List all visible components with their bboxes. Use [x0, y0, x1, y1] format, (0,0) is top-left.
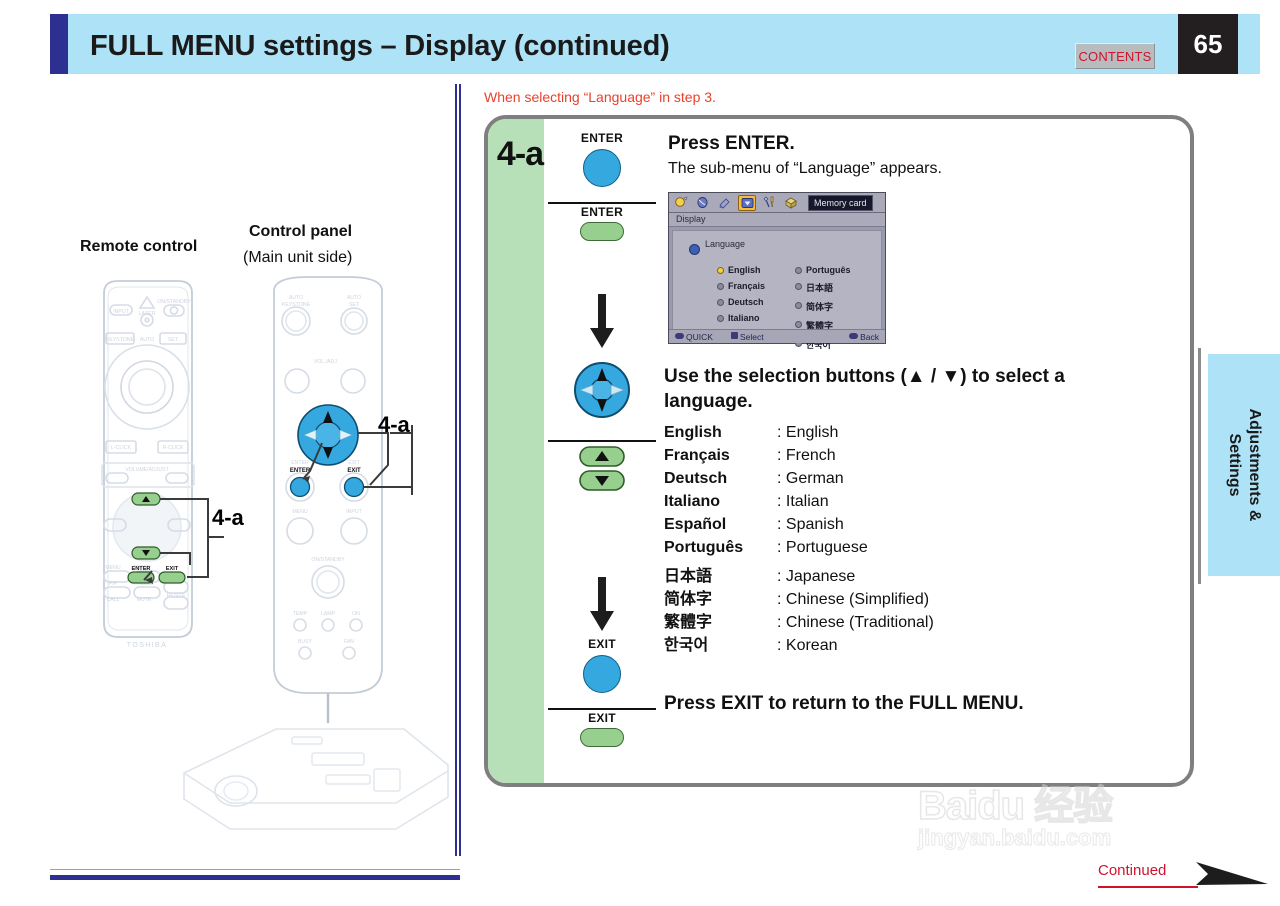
table-row: 简体字 : Chinese (Simplified) [664, 585, 934, 608]
svg-text:L-CLICK: L-CLICK [111, 445, 131, 451]
enter-pill-group: ENTER [544, 205, 660, 241]
svg-text:ON/STANDBY: ON/STANDBY [157, 299, 191, 305]
language-english: : German [777, 470, 844, 488]
down-pill-button-icon[interactable] [579, 470, 625, 492]
osd-image-adjust-icon[interactable] [672, 195, 690, 211]
table-row: Português : Portuguese [664, 539, 934, 562]
flow-arrow-down-icon [589, 577, 615, 633]
language-english: : Korean [777, 637, 837, 655]
svg-text:AUTO: AUTO [289, 295, 303, 301]
exit-top-label: EXIT [544, 637, 660, 651]
osd-title: Display [669, 213, 885, 227]
page-title: FULL MENU settings – Display (continued) [90, 26, 940, 70]
svg-text:LASER: LASER [138, 311, 155, 317]
continued-underline [1098, 886, 1198, 888]
language-english: : Chinese (Simplified) [777, 591, 929, 609]
watermark: Baidu 经验 jingyan.baidu.com [918, 786, 1218, 852]
osd-default-icon[interactable] [782, 195, 800, 211]
svg-text:FREEZE: FREEZE [134, 581, 155, 587]
svg-text:TEMP: TEMP [293, 611, 308, 617]
svg-text:SET: SET [349, 302, 360, 308]
language-native: 한국어 [664, 631, 777, 655]
enter-pill-button-icon[interactable] [580, 222, 624, 241]
svg-text:BUSY: BUSY [298, 639, 313, 645]
exit-round-button-icon[interactable] [583, 655, 621, 693]
svg-text:MENU: MENU [105, 565, 121, 571]
language-native: 日本語 [664, 562, 777, 586]
osd-submenu-title: Language [705, 239, 745, 249]
svg-text:SET: SET [168, 337, 179, 343]
osd-display-icon[interactable] [738, 195, 756, 211]
svg-text:ENTER: ENTER [291, 460, 309, 466]
svg-text:PIP: PIP [109, 581, 118, 587]
osd-language-label: Italiano [728, 313, 760, 323]
document-page: FULL MENU settings – Display (continued)… [0, 0, 1280, 906]
osd-radio-icon [795, 267, 802, 274]
osd-language-label: 日本語 [806, 283, 833, 293]
watermark-line-2: jingyan.baidu.com [918, 826, 1218, 850]
table-row: English : English [664, 424, 934, 447]
osd-radio-icon [717, 315, 724, 322]
osd-footer-select[interactable]: Select [731, 332, 764, 342]
osd-select-button-icon [731, 332, 738, 339]
continued-indicator: Continued [1098, 862, 1166, 880]
page-number-badge: 65 [1178, 14, 1238, 74]
svg-text:INPUT: INPUT [346, 509, 362, 515]
page-number-label: 65 [1194, 29, 1223, 60]
svg-text:EXIT: EXIT [348, 460, 360, 466]
enter-bottom-label: ENTER [544, 205, 660, 219]
svg-text:FAN: FAN [344, 639, 354, 645]
step-card: 4-a ENTER ENTER Press ENTER. The sub-men… [484, 115, 1194, 787]
svg-text:VOL./ADJ.: VOL./ADJ. [314, 359, 339, 365]
watermark-line-1: Baidu 经验 [918, 786, 1218, 826]
osd-radio-icon [795, 302, 802, 309]
osd-language-item[interactable]: Português [795, 265, 851, 275]
language-native: Deutsch [664, 470, 777, 488]
up-pill-button-icon[interactable] [579, 446, 625, 468]
language-english: : French [777, 447, 836, 465]
enter-top-label: ENTER [544, 131, 660, 145]
table-row: Español : Spanish [664, 516, 934, 539]
osd-body: Language English Français Deutsch [672, 230, 882, 333]
osd-language-item[interactable]: English [717, 265, 765, 275]
flow-arrow-down-icon [589, 294, 615, 350]
updown-pill-group [544, 446, 660, 492]
language-english: : Chinese (Traditional) [777, 614, 934, 632]
osd-radio-icon [795, 283, 802, 290]
osd-footer-quick[interactable]: QUICK [675, 332, 713, 342]
control-panel-subcaption: (Main unit side) [243, 249, 352, 267]
selection-pad-icon[interactable] [573, 361, 631, 419]
selection-pad-group [544, 361, 660, 419]
step-card-green-band [488, 119, 544, 783]
section-tab-adjustments-settings[interactable]: Adjustments & Settings [1208, 354, 1280, 576]
osd-quick-button-icon [675, 333, 684, 339]
svg-text:ENTER: ENTER [133, 565, 151, 571]
osd-memory-card-tab[interactable]: Memory card [808, 195, 873, 211]
svg-text:MENU: MENU [292, 509, 308, 515]
language-english: : Portuguese [777, 539, 868, 557]
exit-pill-button-icon[interactable] [580, 728, 624, 747]
table-row: 한국어 : Korean [664, 631, 934, 654]
language-native: English [664, 424, 777, 442]
osd-language-label: 简体字 [806, 302, 833, 312]
language-reference-table: English : English Français : French Deut… [664, 424, 934, 654]
footer-rule-thin [50, 869, 460, 870]
osd-screenshot: Memory card Display Language English Fra… [668, 192, 886, 344]
divider-line-2 [548, 440, 656, 442]
divider-line-3 [548, 708, 656, 710]
contents-button-label: CONTENTS [1078, 49, 1151, 64]
osd-language-column-right: Português 日本語 简体字 繁體字 [795, 265, 851, 357]
svg-text:KEYSTONE: KEYSTONE [282, 302, 311, 308]
footer-rule-thick [50, 875, 460, 880]
contents-button[interactable]: CONTENTS [1075, 43, 1155, 69]
divider-line-1 [548, 202, 656, 204]
table-row: Italiano : Italian [664, 493, 934, 516]
osd-radio-icon [717, 283, 724, 290]
svg-text:CALL: CALL [107, 597, 120, 603]
svg-text:ON/STANDBY: ON/STANDBY [311, 557, 345, 563]
svg-text:INPUT: INPUT [113, 309, 129, 315]
remote-control-caption: Remote control [80, 238, 197, 256]
osd-language-item[interactable]: 日本語 [795, 281, 851, 294]
language-english: : English [777, 424, 838, 442]
svg-text:R-CLICK: R-CLICK [163, 445, 184, 451]
osd-language-label: Français [728, 281, 765, 291]
svg-text:MUTE: MUTE [137, 597, 152, 603]
svg-text:AUTO: AUTO [140, 337, 154, 343]
language-native: 简体字 [664, 585, 777, 609]
svg-text:AUTO: AUTO [347, 295, 361, 301]
language-native: 繁體字 [664, 608, 777, 632]
svg-text:VOLUME/ADJUST: VOLUME/ADJUST [125, 467, 169, 473]
language-native: Français [664, 447, 777, 465]
osd-color-icon[interactable] [694, 195, 712, 211]
osd-language-label: Deutsch [728, 297, 764, 307]
control-panel-caption: Control panel [249, 223, 352, 241]
language-english: : Spanish [777, 516, 844, 534]
svg-text:LAMP: LAMP [321, 611, 336, 617]
table-row: Français : French [664, 447, 934, 470]
section-tab-label: Adjustments & Settings [1208, 354, 1280, 576]
svg-text:EXIT: EXIT [167, 575, 179, 581]
svg-text:KEYSTONE: KEYSTONE [106, 337, 135, 343]
table-row: 繁體字 : Chinese (Traditional) [664, 608, 934, 631]
osd-radio-icon [795, 321, 802, 328]
step-heading-exit: Press EXIT to return to the FULL MENU. [664, 693, 1024, 715]
osd-language-item[interactable]: Français [717, 281, 765, 291]
continued-arrow-icon [1194, 858, 1274, 890]
language-native: Español [664, 516, 777, 534]
step-heading-enter: Press ENTER. [668, 133, 795, 155]
side-tab-rule [1198, 348, 1201, 584]
osd-language-label: English [728, 265, 761, 275]
exit-bottom-label: EXIT [544, 711, 660, 725]
header-accent-bar [50, 14, 68, 74]
osd-language-item[interactable]: 简体字 [795, 300, 851, 313]
language-native: Italiano [664, 493, 777, 511]
osd-input-icon[interactable] [716, 195, 734, 211]
osd-language-label: Português [806, 265, 851, 275]
language-native: Português [664, 539, 777, 557]
table-row: Deutsch : German [664, 470, 934, 493]
osd-radio-selected-icon [717, 267, 724, 274]
exit-pill-group: EXIT [544, 711, 660, 747]
osd-language-item[interactable]: Deutsch [717, 297, 765, 307]
osd-language-item[interactable]: Italiano [717, 313, 765, 323]
enter-round-button-icon[interactable] [583, 149, 621, 187]
continued-label: Continued [1098, 862, 1166, 879]
svg-text:TOSHIBA: TOSHIBA [127, 642, 167, 649]
language-english: : Japanese [777, 568, 855, 586]
osd-radio-icon [717, 299, 724, 306]
osd-setup-icon[interactable] [760, 195, 778, 211]
osd-footer: QUICK Select Back [669, 329, 885, 343]
osd-tab-bar: Memory card [669, 193, 885, 213]
exit-button-group: EXIT [544, 637, 660, 693]
osd-footer-back[interactable]: Back [849, 332, 879, 342]
enter-button-group: ENTER [544, 131, 660, 187]
svg-text:RESIZE: RESIZE [167, 593, 186, 599]
callout-remote-4a: 4-a [212, 505, 244, 531]
step-subtext-enter: The sub-menu of “Language” appears. [668, 160, 942, 178]
table-row: 日本語 : Japanese [664, 562, 934, 585]
step-number-label: 4-a [492, 135, 548, 174]
device-illustrations: INPUT ON/STANDBY LASER KEYSTONE AUTO SET… [60, 275, 460, 835]
intro-note: When selecting “Language” in step 3. [484, 89, 716, 105]
osd-back-button-icon [849, 333, 858, 339]
osd-globe-icon [689, 244, 700, 255]
language-english: : Italian [777, 493, 829, 511]
svg-text:ON: ON [352, 611, 360, 617]
step-heading-selection: Use the selection buttons (▲ / ▼) to sel… [664, 364, 1134, 414]
callout-panel-4a: 4-a [378, 412, 410, 438]
